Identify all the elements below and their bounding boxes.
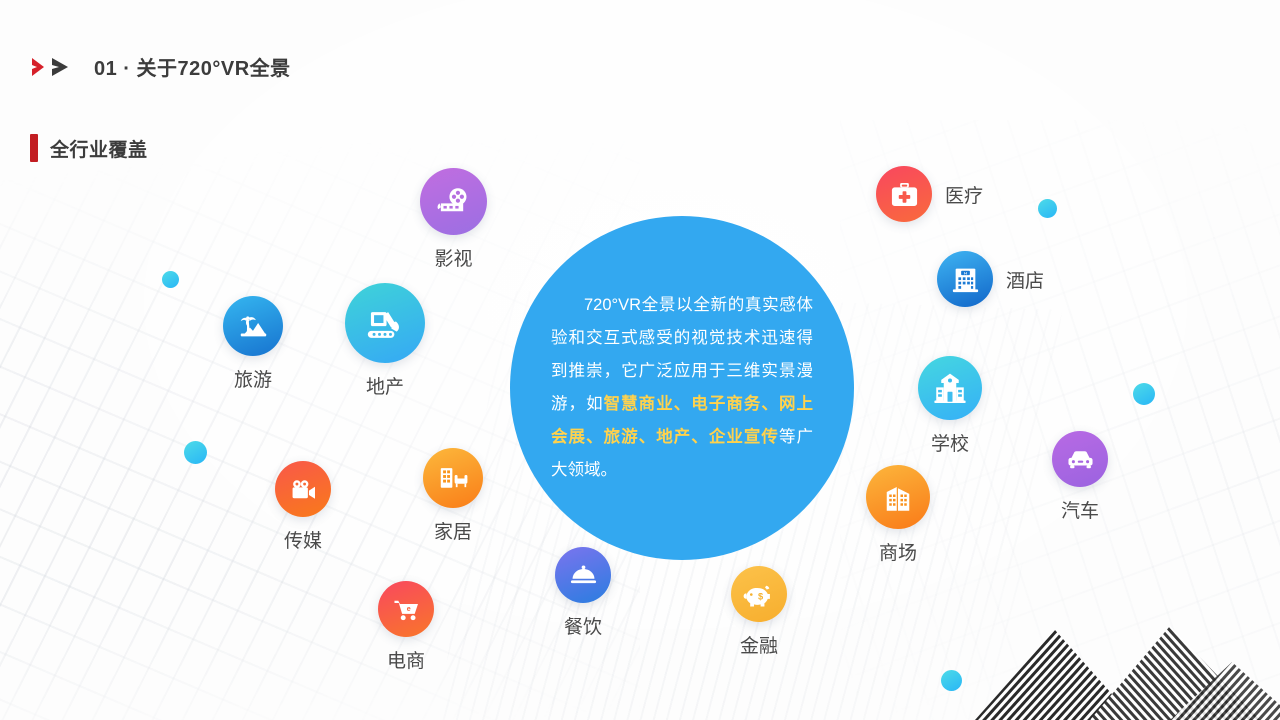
industry-node-finance[interactable]: $金融	[731, 566, 787, 658]
chevron-right-dark-icon	[50, 54, 80, 80]
food-cloche-icon[interactable]	[555, 547, 611, 603]
video-camera-icon[interactable]	[275, 461, 331, 517]
industry-node-realestate[interactable]: 地产	[345, 283, 425, 399]
industry-label-mall: 商场	[879, 538, 917, 565]
hotel-building-icon[interactable]: H	[937, 251, 993, 307]
industry-node-ecommerce[interactable]: e电商	[378, 581, 434, 673]
industry-node-auto[interactable]: 汽车	[1052, 431, 1108, 523]
page-title: 01 · 关于720°VR全景	[94, 52, 291, 81]
car-icon[interactable]	[1052, 431, 1108, 487]
industry-label-finance: 金融	[740, 631, 778, 658]
piggy-bank-icon[interactable]: $	[731, 566, 787, 622]
industry-node-hotel[interactable]: H酒店	[937, 251, 1044, 307]
dark-building-lineart	[970, 590, 1280, 720]
subsection-title: 全行业覆盖	[50, 135, 148, 162]
industry-node-media[interactable]: 传媒	[275, 461, 331, 553]
decorative-dot-5	[941, 670, 962, 691]
svg-text:H: H	[964, 271, 967, 275]
palm-beach-icon[interactable]	[223, 296, 283, 356]
industry-node-catering[interactable]: 餐饮	[555, 547, 611, 639]
industry-label-film: 影视	[434, 244, 472, 271]
decorative-dot-2	[184, 441, 207, 464]
industry-label-home: 家居	[434, 517, 472, 544]
industry-node-film[interactable]: 影视	[420, 168, 487, 271]
office-towers-icon[interactable]	[866, 465, 930, 529]
subsection-header: 全行业覆盖	[30, 134, 148, 162]
chevron-group	[30, 54, 80, 80]
film-reel-icon[interactable]	[420, 168, 487, 235]
medical-kit-icon[interactable]	[876, 166, 932, 222]
center-description-text: 720°VR全景以全新的真实感体验和交互式感受的视觉技术迅速得到推崇，它广泛应用…	[551, 289, 813, 487]
decorative-dot-1	[162, 271, 179, 288]
excavator-icon[interactable]	[345, 283, 425, 363]
industry-label-auto: 汽车	[1061, 496, 1099, 523]
industry-label-school: 学校	[931, 429, 969, 456]
svg-text:$: $	[758, 591, 764, 601]
slide-canvas: 01 · 关于720°VR全景 全行业覆盖 720°VR全景以全新的真实感体验和…	[0, 0, 1280, 720]
industry-node-home[interactable]: 家居	[423, 448, 483, 544]
section-header: 01 · 关于720°VR全景	[30, 52, 291, 81]
industry-node-school[interactable]: 学校	[918, 356, 982, 456]
furniture-icon[interactable]	[423, 448, 483, 508]
svg-text:e: e	[406, 605, 410, 613]
subsection-accent-bar	[30, 134, 38, 162]
industry-label-hotel: 酒店	[1006, 266, 1044, 293]
school-icon[interactable]	[918, 356, 982, 420]
industry-node-travel[interactable]: 旅游	[223, 296, 283, 392]
industry-node-mall[interactable]: 商场	[866, 465, 930, 565]
decorative-dot-4	[1133, 383, 1155, 405]
industry-node-medical[interactable]: 医疗	[876, 166, 983, 222]
center-description-circle: 720°VR全景以全新的真实感体验和交互式感受的视觉技术迅速得到推崇，它广泛应用…	[510, 216, 854, 560]
decorative-dot-3	[1038, 199, 1057, 218]
industry-label-ecommerce: 电商	[387, 646, 425, 673]
industry-label-travel: 旅游	[234, 365, 272, 392]
industry-label-catering: 餐饮	[564, 612, 602, 639]
industry-label-media: 传媒	[284, 526, 322, 553]
industry-label-medical: 医疗	[945, 181, 983, 208]
shopping-cart-icon[interactable]: e	[378, 581, 434, 637]
industry-label-realestate: 地产	[366, 372, 404, 399]
